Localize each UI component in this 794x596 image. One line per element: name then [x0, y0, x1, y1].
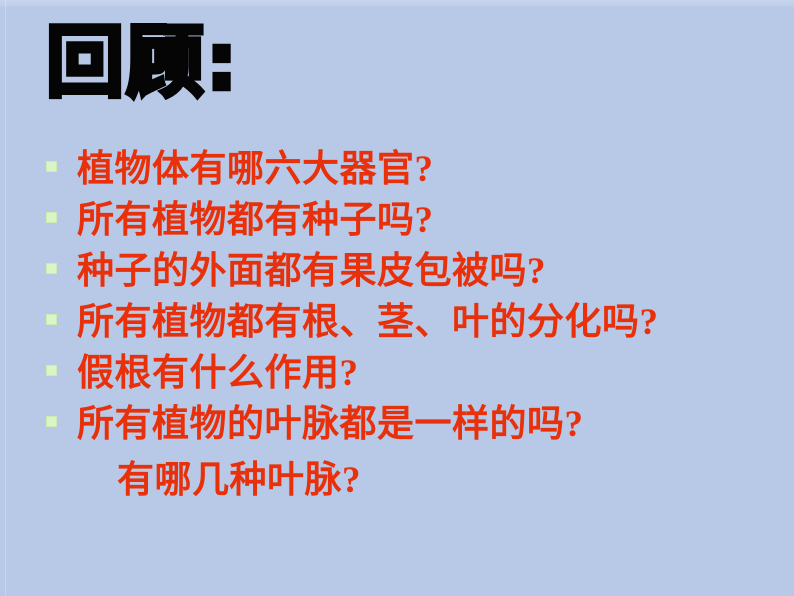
list-item: 所有植物都有种子吗?: [0, 198, 794, 249]
page-title: 回顾:: [46, 17, 239, 109]
top-edge-band: [0, 0, 794, 7]
square-bullet-icon: [46, 416, 57, 427]
list-item: 所有植物的叶脉都是一样的吗?: [0, 402, 794, 453]
trailing-question-text: 有哪几种叶脉?: [117, 455, 361, 506]
list-item: 假根有什么作用?: [0, 351, 794, 402]
square-bullet-icon: [46, 314, 57, 325]
list-item: 种子的外面都有果皮包被吗?: [0, 249, 794, 300]
square-bullet-icon: [46, 212, 57, 223]
list-item-label: 假根有什么作用?: [77, 348, 359, 399]
list-item: 植物体有哪六大器官?: [0, 147, 794, 198]
list-item-label: 所有植物都有种子吗?: [77, 195, 434, 246]
bullet-list: 植物体有哪六大器官? 所有植物都有种子吗? 种子的外面都有果皮包被吗? 所有植物…: [0, 147, 794, 453]
list-item-label: 植物体有哪六大器官?: [77, 144, 434, 195]
square-bullet-icon: [46, 161, 57, 172]
list-item-label: 所有植物都有根、茎、叶的分化吗?: [77, 297, 659, 348]
list-item-label: 所有植物的叶脉都是一样的吗?: [77, 399, 584, 450]
list-item: 所有植物都有根、茎、叶的分化吗?: [0, 300, 794, 351]
square-bullet-icon: [46, 263, 57, 274]
slide-canvas: 回顾: 植物体有哪六大器官? 所有植物都有种子吗? 种子的外面都有果皮包被吗? …: [0, 0, 794, 596]
list-item-label: 种子的外面都有果皮包被吗?: [77, 246, 546, 297]
square-bullet-icon: [46, 365, 57, 376]
